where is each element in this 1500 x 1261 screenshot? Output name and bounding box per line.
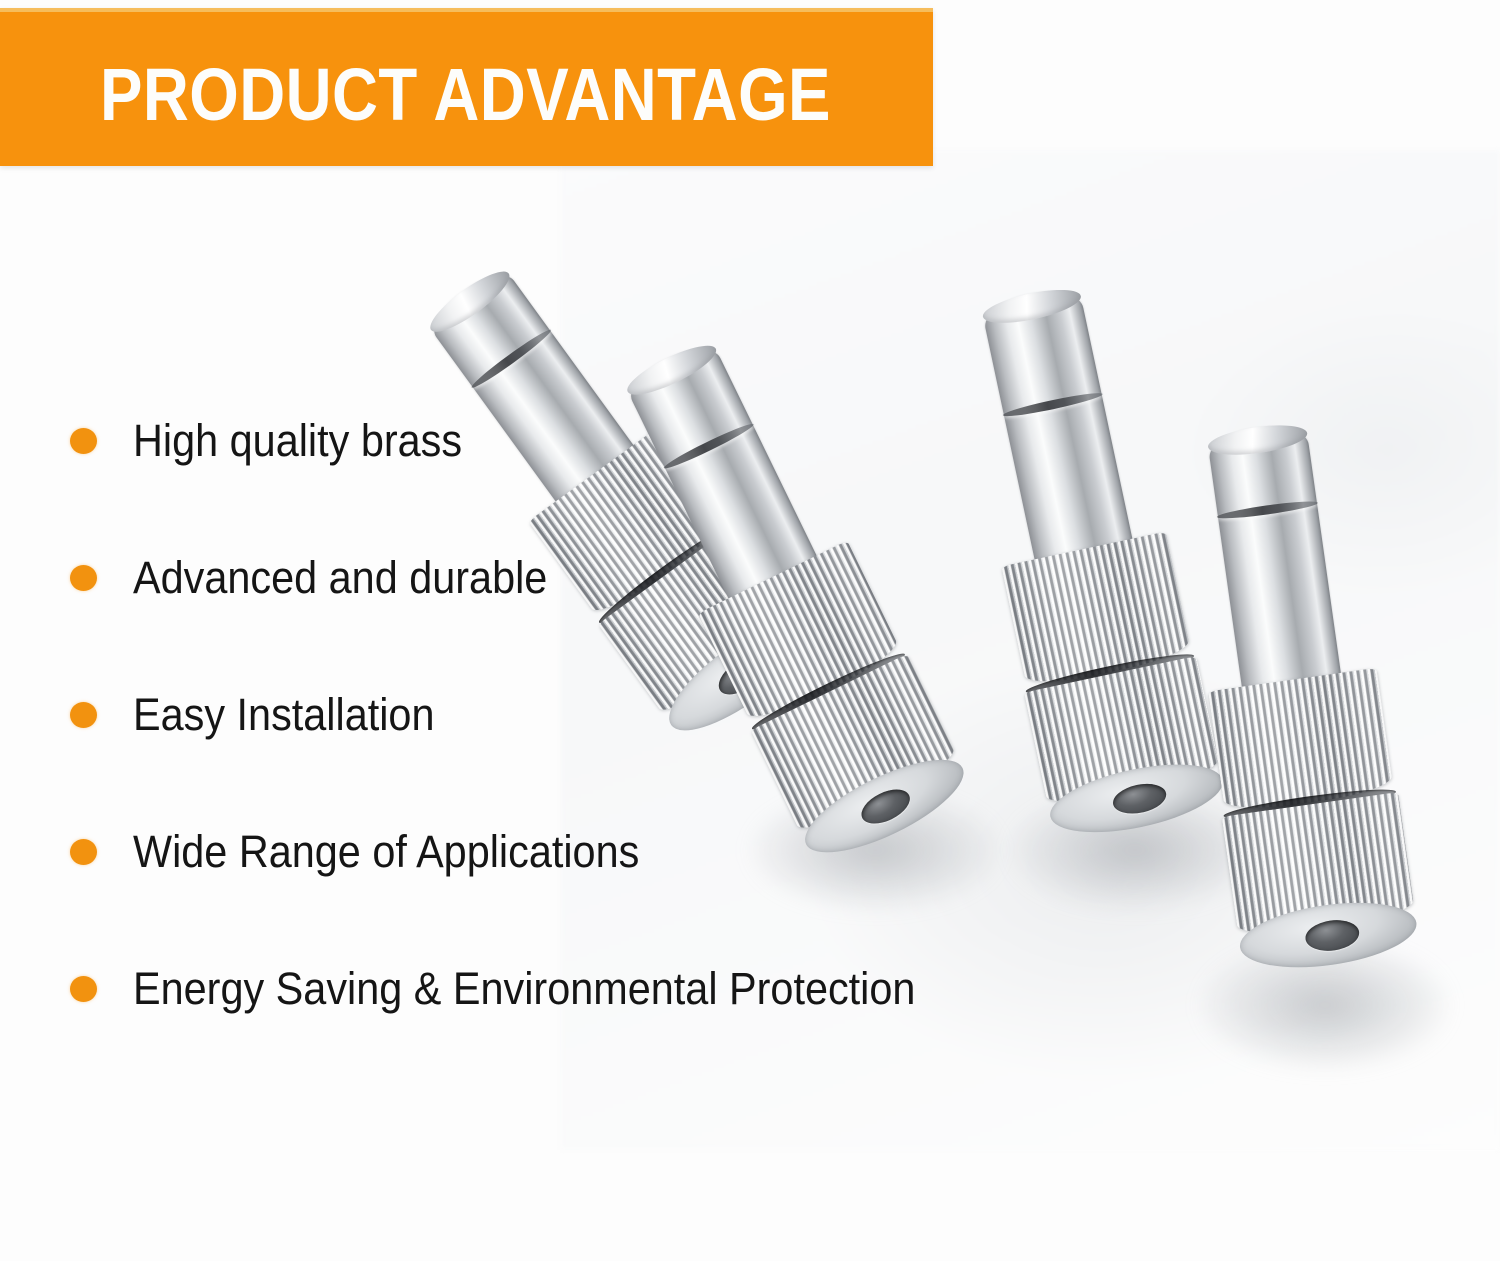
bullet-dot-icon: [70, 702, 97, 728]
nozzle-stem-seam: [1002, 390, 1104, 420]
product-advantage-infographic: PRODUCT ADVANTAGE High quality brass Adv…: [0, 0, 1500, 1261]
nozzle-stem: [1206, 421, 1341, 694]
list-item-label: Easy Installation: [133, 684, 434, 746]
page-title: PRODUCT ADVANTAGE: [100, 54, 831, 136]
bullet-dot-icon: [70, 976, 97, 1002]
bullet-dot-icon: [70, 565, 97, 591]
nozzle-stem-cap: [622, 337, 721, 403]
header-banner: PRODUCT ADVANTAGE: [0, 8, 933, 166]
nozzle-stem-seam: [662, 420, 756, 472]
nozzle-stem-cap: [980, 283, 1083, 329]
nozzle-stem-seam: [1216, 498, 1318, 521]
banner-top-strip: [0, 8, 933, 12]
nozzle-stem-seam: [469, 326, 554, 391]
nozzle-stem-cap: [423, 263, 516, 340]
product-photo: [560, 150, 1500, 1150]
list-item-label: Advanced and durable: [133, 547, 547, 609]
bullet-dot-icon: [70, 839, 97, 865]
nozzle-stem-cap: [1206, 420, 1309, 460]
bullet-dot-icon: [70, 428, 97, 454]
list-item-label: High quality brass: [133, 410, 462, 472]
nozzle-stem: [980, 284, 1134, 567]
